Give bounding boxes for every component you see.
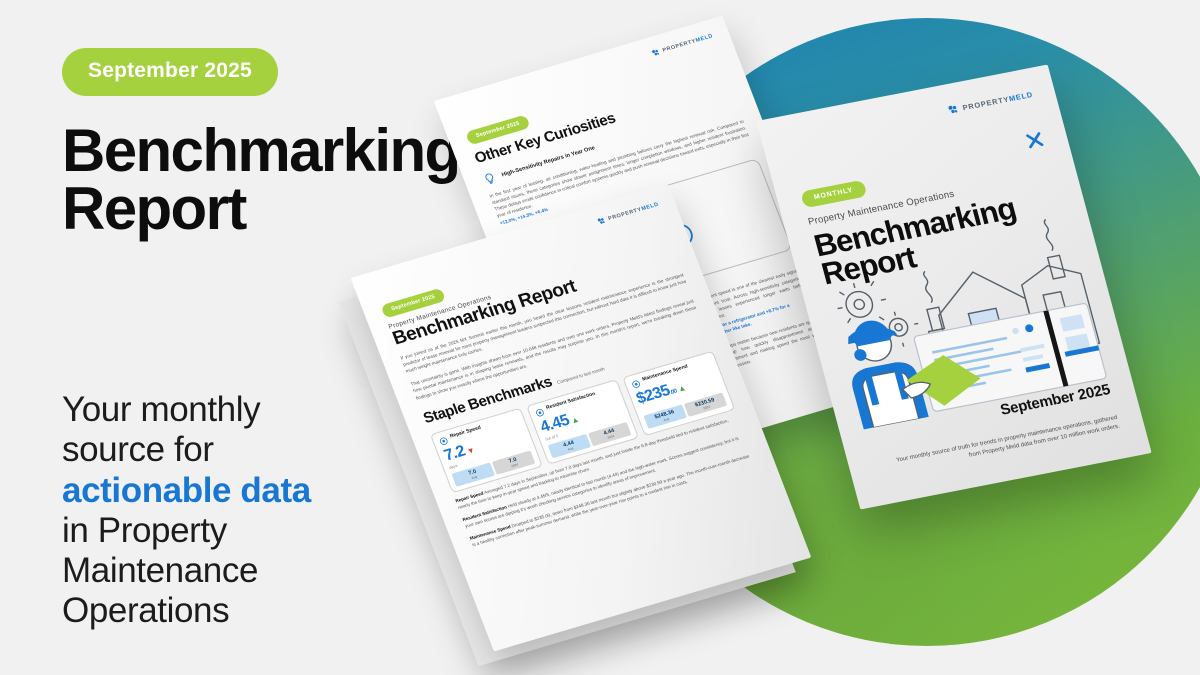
propertymeld-mark-icon	[945, 102, 960, 116]
target-icon	[630, 378, 642, 389]
target-icon	[534, 407, 546, 418]
trend-up-arrow-icon: ▲	[676, 383, 686, 393]
x-mark-icon	[1022, 129, 1047, 152]
staple-benchmarks-suffix: Compared to last month	[556, 366, 605, 385]
trend-down-arrow-icon: ▼	[465, 445, 475, 455]
cover-badge: MONTHLY	[800, 180, 867, 209]
comparison-bar: $230.59 2024	[684, 392, 727, 416]
card-value-cents: .00	[669, 388, 677, 395]
date-pill-badge: September 2025	[62, 48, 278, 96]
cover-logo: PROPERTYMELD	[945, 88, 1034, 116]
poster-canvas: September 2025 Benchmarking Report Your …	[0, 0, 1200, 675]
trend-up-arrow-icon: ▲	[570, 415, 580, 425]
lightbulb-icon	[481, 171, 498, 187]
cover-logo-text: PROPERTYMELD	[961, 90, 1033, 112]
comparison-bar: $248.36 Aug	[643, 404, 686, 428]
target-icon	[438, 435, 450, 446]
